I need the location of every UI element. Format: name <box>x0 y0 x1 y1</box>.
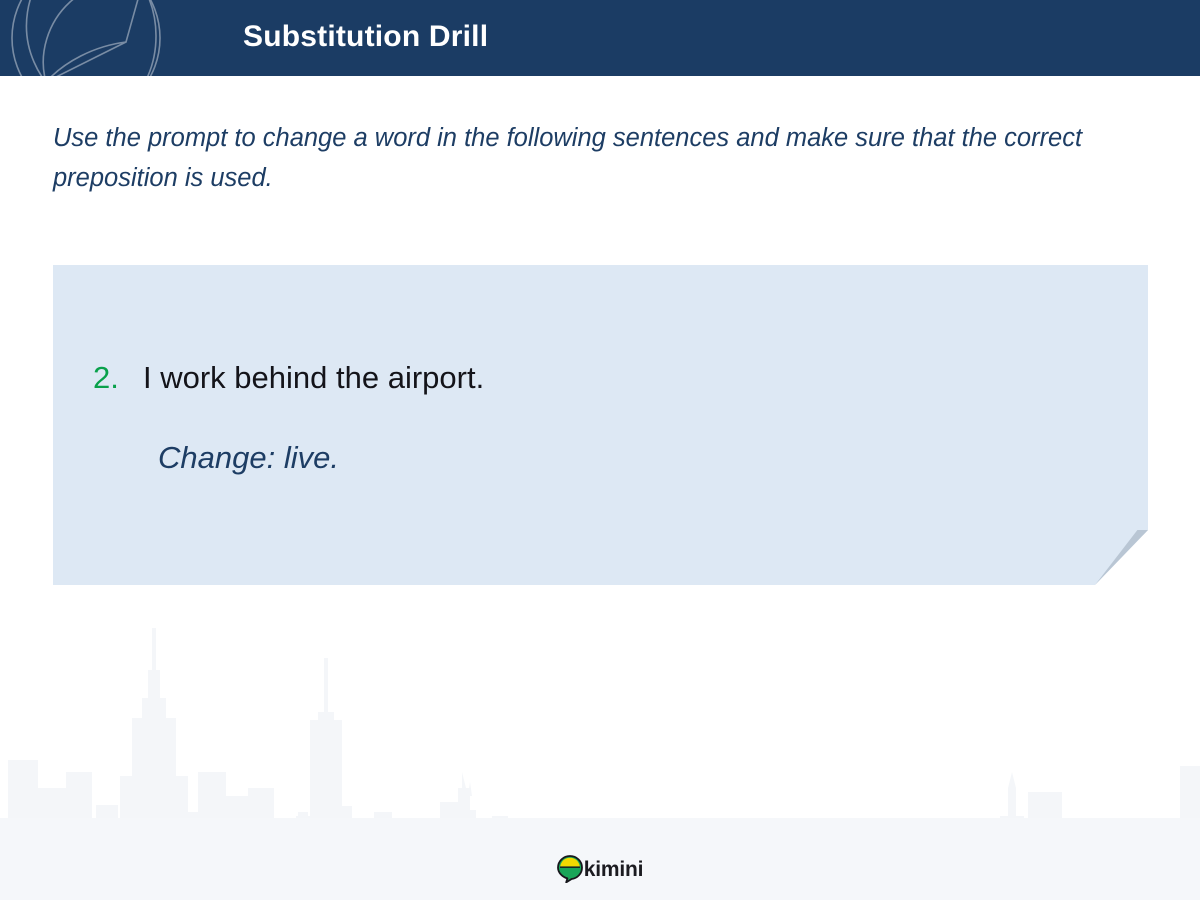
list-item: 2. I work behind the airport. <box>93 360 484 396</box>
exercise-card-surface: 2. I work behind the airport. Change: li… <box>53 265 1148 585</box>
slide-root: Substitution Drill Use the prompt to cha… <box>0 0 1200 900</box>
question-number: 2. <box>93 360 143 396</box>
g-monogram-outline-icon <box>0 0 190 76</box>
brand-logo: kimini <box>0 852 1200 886</box>
page-title: Substitution Drill <box>243 0 488 76</box>
question-change-prompt: Change: live. <box>158 440 339 476</box>
question-sentence: I work behind the airport. <box>143 360 484 396</box>
instruction-text: Use the prompt to change a word in the f… <box>53 118 1123 198</box>
kimini-speech-bubble-icon <box>557 855 583 883</box>
slide-header: Substitution Drill <box>0 0 1200 76</box>
brand-name: kimini <box>584 859 643 880</box>
exercise-card: 2. I work behind the airport. Change: li… <box>53 265 1148 585</box>
